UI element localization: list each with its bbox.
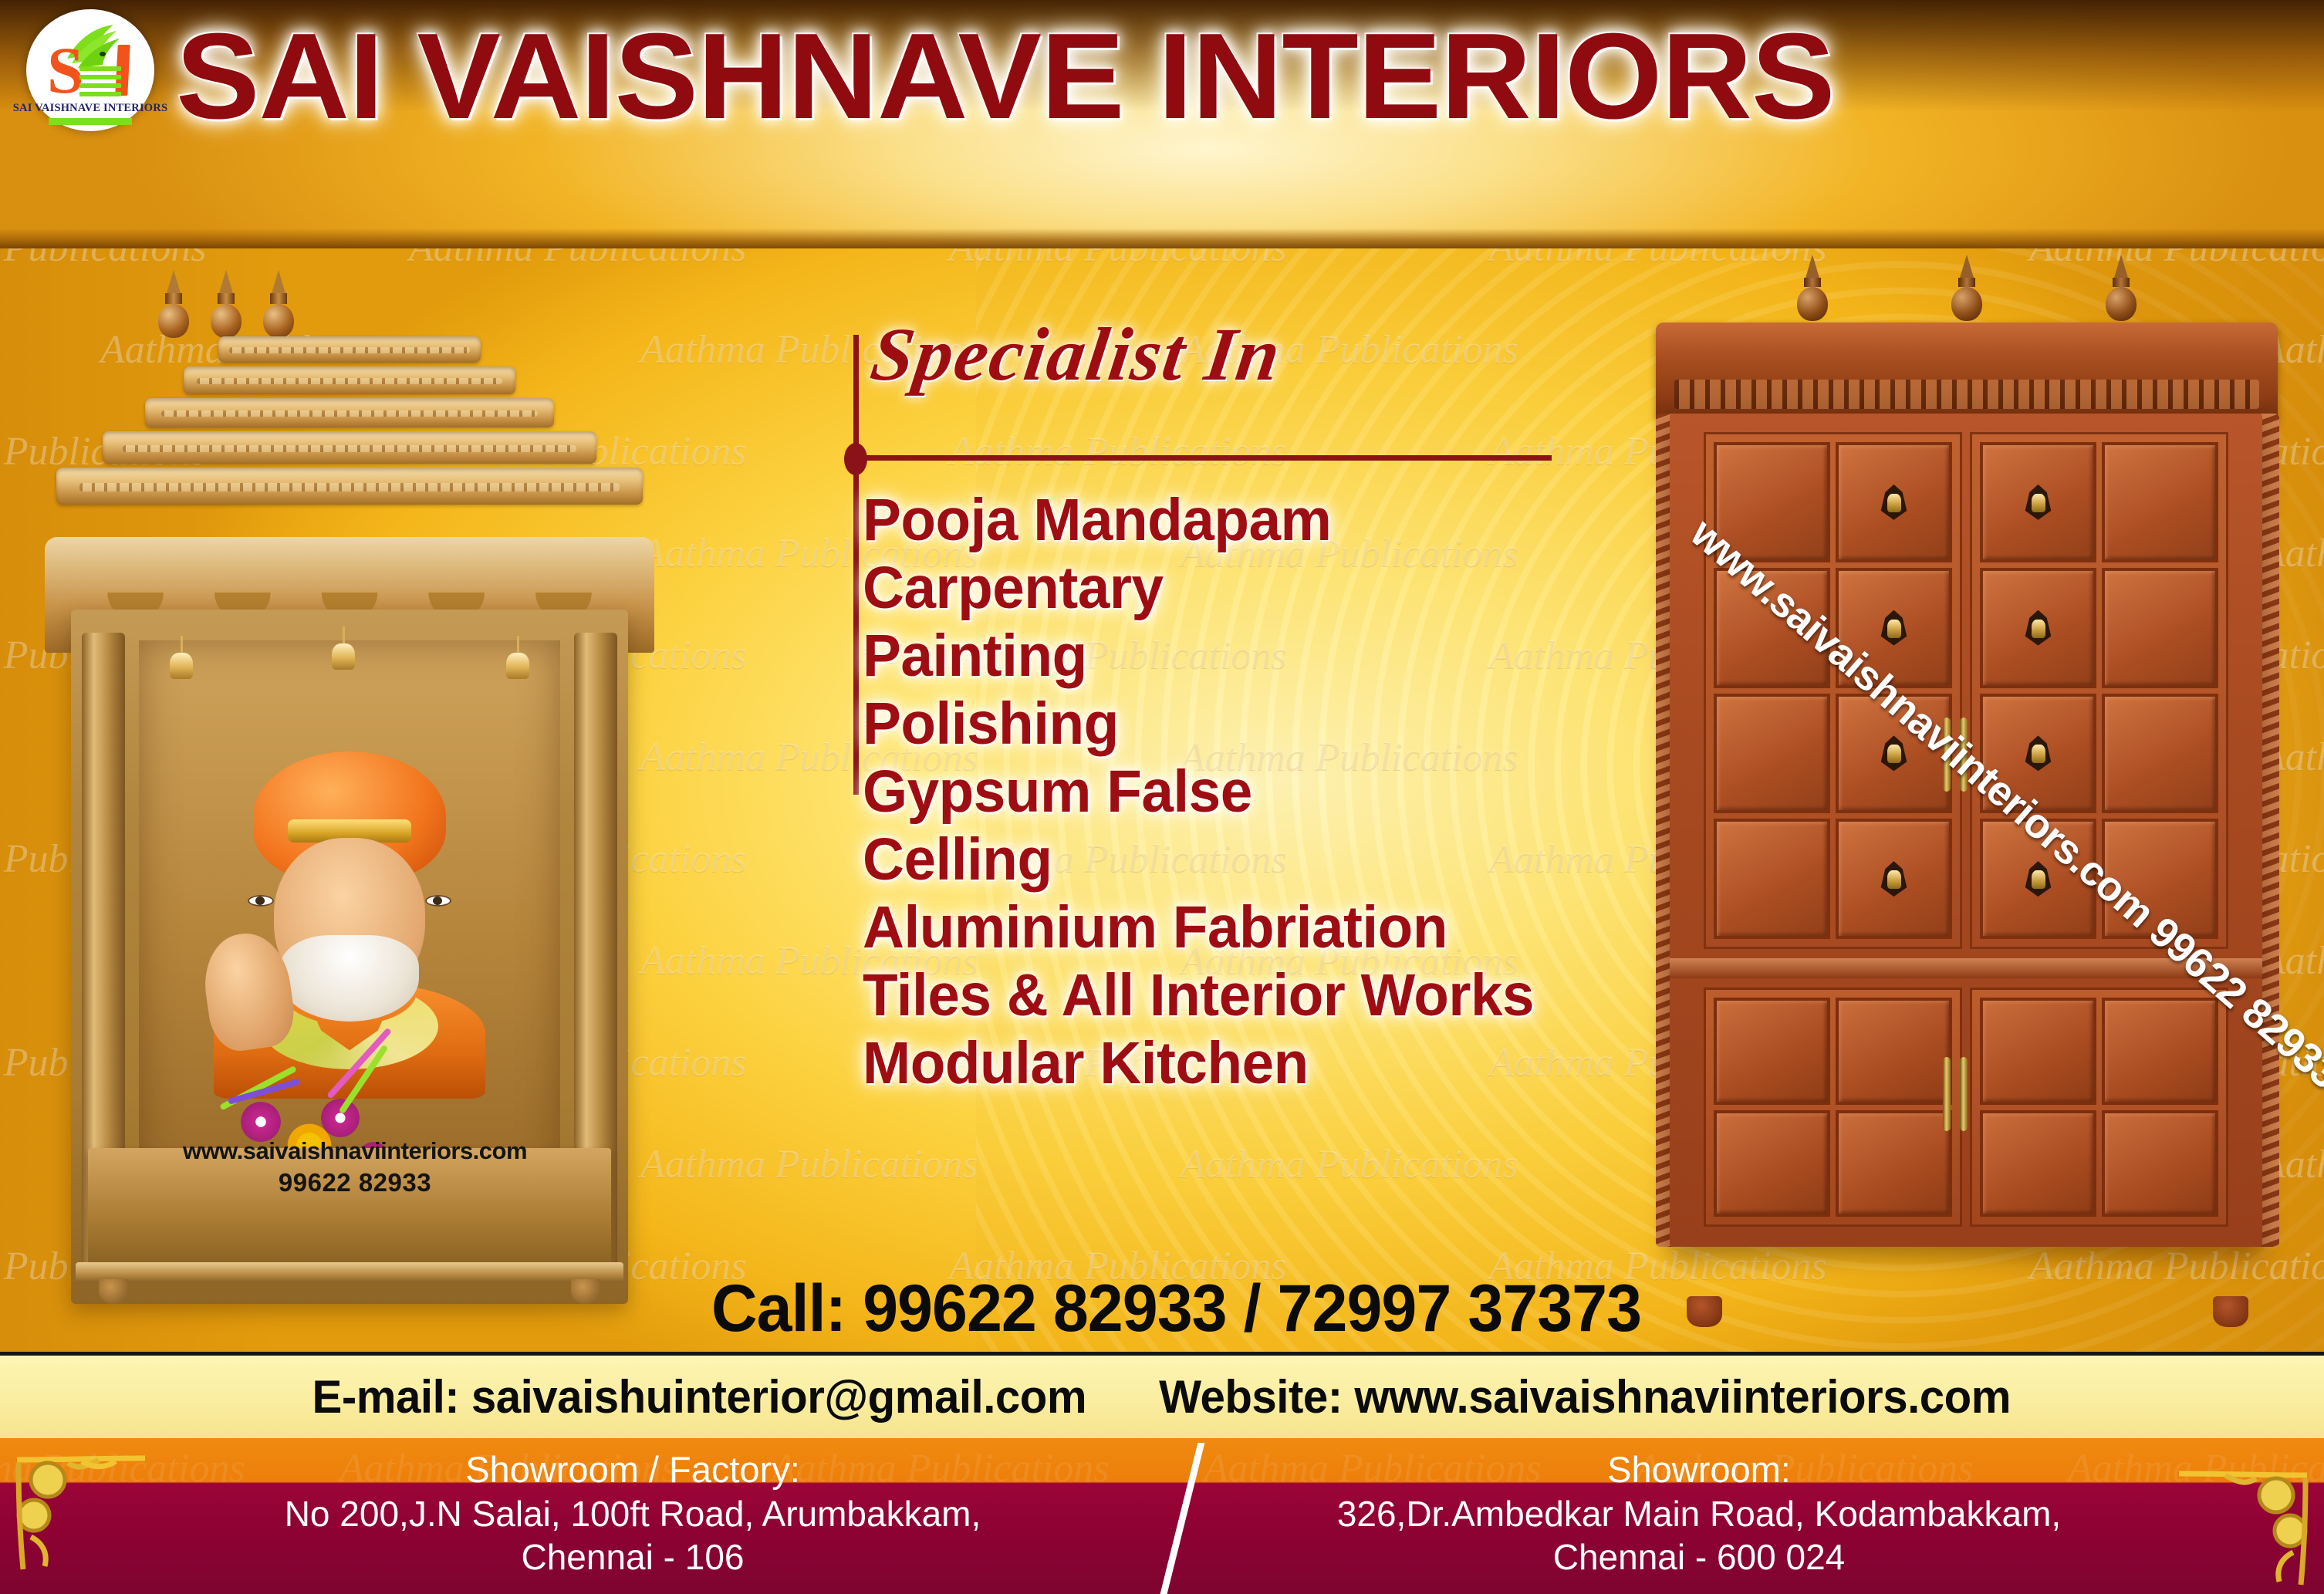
logo-underline <box>49 118 132 125</box>
background-watermark: Aathma Publications <box>949 248 1287 271</box>
cabinet-lower-panel <box>1714 1110 1830 1217</box>
specialist-bullet-diamond <box>844 443 867 475</box>
contact-bar: E-mail: saivaishuinterior@gmail.com Webs… <box>0 1352 2324 1438</box>
footer-right-line1: 326,Dr.Ambedkar Main Road, Kodambakkam, <box>1159 1492 2239 1535</box>
brass-bell-icon <box>1879 610 1910 646</box>
services-list: Pooja MandapamCarpentaryPaintingPolishin… <box>863 486 1742 1097</box>
specialist-vertical-rule <box>853 335 859 795</box>
product-overlay-contact: www.saivaishnaviinteriors.com 99622 8293… <box>23 1137 687 1197</box>
service-item: Pooja Mandapam <box>863 486 1716 554</box>
mandapam-inner-niche <box>139 640 560 1180</box>
cabinet-foot <box>571 1279 600 1304</box>
background-watermark: Aathma Publications <box>640 1142 978 1187</box>
pooja-mandapam-image: www.saivaishnaviinteriors.com 99622 8293… <box>23 270 687 1335</box>
kalash-finial <box>2103 255 2139 326</box>
cabinet-panel <box>2102 568 2218 688</box>
brass-bell-icon <box>2023 485 2054 520</box>
footer-address-left: Showroom / Factory: No 200,J.N Salai, 10… <box>93 1447 1173 1594</box>
brass-bell-icon <box>2023 735 2054 771</box>
cabinet-foot <box>99 1279 128 1304</box>
cabinet-cornice <box>1656 323 2278 420</box>
footer-address-right: Showroom: 326,Dr.Ambedkar Main Road, Kod… <box>1159 1447 2239 1594</box>
service-item: Polishing <box>863 690 1716 758</box>
logo-letter-s: S <box>47 46 83 94</box>
cabinet-panel <box>1980 442 2096 562</box>
cabinet-panel <box>2102 442 2218 562</box>
specialist-header: Specialist In <box>826 307 1520 500</box>
cabinet-panel <box>1836 819 1952 939</box>
overlay-website: www.saivaishnaviinteriors.com <box>23 1137 687 1165</box>
kalash-finial <box>1795 255 1830 326</box>
kalash-finial <box>156 270 191 341</box>
cabinet-handle <box>1960 1057 1968 1131</box>
website-line[interactable]: Website: www.saivaishnaviinteriors.com <box>1159 1370 2011 1423</box>
background-watermark: Aathma Publications <box>1181 1142 1518 1187</box>
service-item: Gypsum False <box>863 758 1716 826</box>
cabinet-panel <box>1980 568 2096 688</box>
specialist-horizontal-rule <box>853 455 1552 461</box>
cabinet-lower-panel <box>1836 1110 1952 1217</box>
cabinet-foot <box>1687 1296 1722 1327</box>
service-item: Modular Kitchen <box>863 1029 1716 1097</box>
brass-bell-icon <box>1879 485 1910 520</box>
brass-bell-icon <box>2023 610 2054 646</box>
overlay-phone: 99622 82933 <box>23 1168 687 1197</box>
hanging-bell <box>168 636 194 685</box>
cabinet-lower-door[interactable] <box>1704 988 1962 1227</box>
mandapam-roof <box>45 336 654 537</box>
kalash-finial <box>261 270 296 341</box>
cabinet-upper-doors <box>1704 432 2228 949</box>
cabinet-foot <box>2213 1296 2248 1327</box>
service-item: Painting <box>863 622 1716 690</box>
cabinet-panel <box>1836 442 1952 562</box>
sai-baba-portrait <box>203 751 496 1091</box>
logo-green-bars <box>79 66 121 100</box>
kalash-finial <box>208 270 244 341</box>
cabinet-lower-panel <box>2102 998 2218 1105</box>
cabinet-lower-panel <box>2102 1110 2218 1217</box>
call-phone-line: Call: 99622 82933 / 72997 37373 <box>711 1271 1641 1346</box>
email-line[interactable]: E-mail: saivaishuinterior@gmail.com <box>312 1370 1086 1423</box>
mandapam-plinth <box>76 1262 623 1282</box>
service-item: Celling <box>863 826 1716 893</box>
background-watermark: Aathma Publications <box>409 248 747 271</box>
footer-left-line1: No 200,J.N Salai, 100ft Road, Arumbakkam… <box>93 1492 1173 1535</box>
cabinet-lower-door[interactable] <box>1970 988 2228 1227</box>
cabinet-lower-panel <box>1836 998 1952 1105</box>
service-item: Aluminium Fabriation <box>863 893 1716 961</box>
page-title: SAI VAISHNAVE INTERIORS <box>176 11 2324 142</box>
service-item: Tiles & All Interior Works <box>863 961 1716 1029</box>
brass-bell-icon <box>1879 861 1910 897</box>
service-item: Carpentary <box>863 554 1716 622</box>
advertisement-flyer: S SAI VAISHNAVE INTERIORS SAI VAISHNAVE … <box>0 0 2324 1594</box>
brass-bell-icon <box>2023 861 2054 897</box>
logo-caption: SAI VAISHNAVE INTERIORS <box>13 102 167 115</box>
footer-left-line2: Chennai - 106 <box>93 1535 1173 1579</box>
cabinet-panel <box>2102 694 2218 814</box>
cabinet-lower-panel <box>1980 1110 2096 1217</box>
header-banner: S SAI VAISHNAVE INTERIORS SAI VAISHNAVE … <box>0 0 2324 248</box>
hanging-bell <box>505 636 531 685</box>
footer-addresses: Aathma PublicationsAathma PublicationsAa… <box>0 1438 2324 1594</box>
footer-right-heading: Showroom: <box>1159 1447 2239 1492</box>
brass-bell-icon <box>1879 735 1910 771</box>
footer-right-line2: Chennai - 600 024 <box>1159 1535 2239 1579</box>
wooden-cabinet-image: www.saivaishnaviinteriors.com 99622 8293… <box>1651 255 2284 1335</box>
mandapam-cabinet <box>71 610 628 1304</box>
company-logo: S SAI VAISHNAVE INTERIORS <box>26 9 154 131</box>
footer-left-heading: Showroom / Factory: <box>93 1447 1173 1492</box>
specialist-title: Specialist In <box>866 312 1286 398</box>
cabinet-lower-panel <box>1980 998 2096 1105</box>
cabinet-door[interactable] <box>1704 432 1962 949</box>
logo-mark: S <box>39 20 141 100</box>
hanging-bell <box>330 626 356 676</box>
kalash-finial <box>1949 255 1985 326</box>
cabinet-handle <box>1943 1057 1951 1131</box>
